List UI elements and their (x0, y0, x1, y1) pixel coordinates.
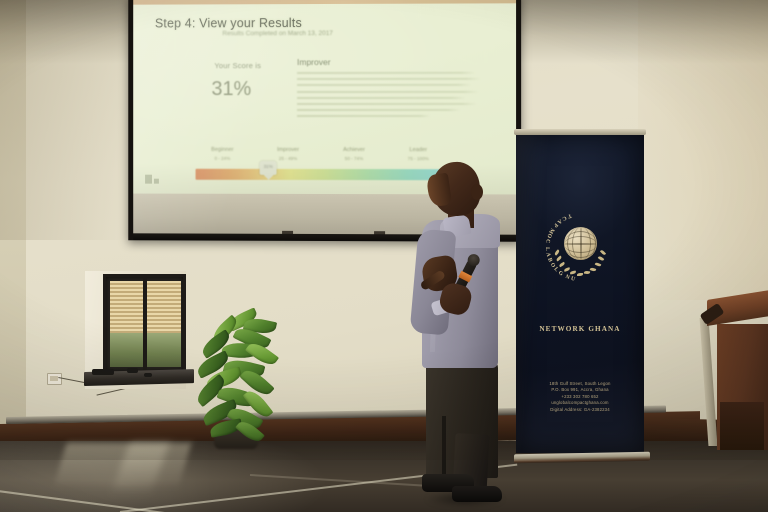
photo-scene: Step 4: View your Results Results Comple… (0, 0, 768, 512)
scene-vignette (0, 0, 768, 460)
presenter-shoe-right (452, 486, 502, 502)
